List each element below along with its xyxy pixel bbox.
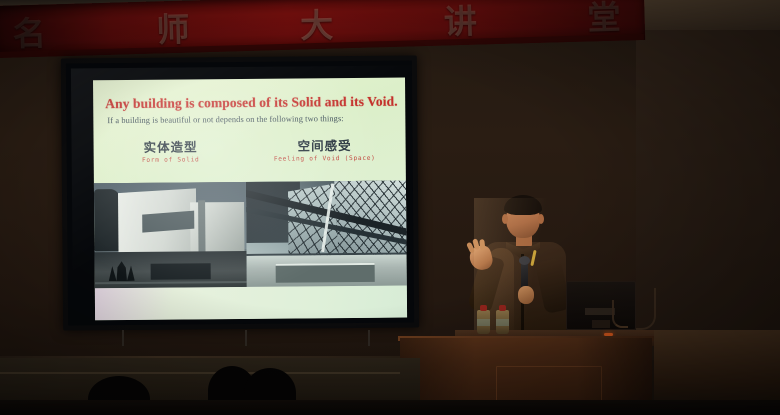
column-label-void: 空间感受 Feeling of Void (Space) (262, 138, 388, 163)
speaker-ear-left (502, 214, 508, 224)
microphone-head (519, 256, 530, 265)
water-bottle-1 (477, 310, 490, 334)
water-bottle-2 (496, 310, 509, 334)
bottle-cap-1 (480, 305, 487, 311)
screen-hanger-left (122, 330, 124, 346)
pyramid-sunken-court (275, 263, 374, 283)
column-label-solid-en: Form of Solid (116, 156, 226, 164)
bottle-cap-2 (499, 305, 506, 311)
slide-image-solid-building (94, 182, 247, 288)
column-label-void-en: Feeling of Void (Space) (262, 155, 388, 163)
cable-right (636, 288, 656, 330)
building-tree (94, 189, 121, 251)
stage-molding-line (0, 372, 400, 374)
foreground-shadow (0, 400, 780, 415)
speaker-hand-holding-mic (518, 286, 534, 304)
slide-subtitle: If a building is beautiful or not depend… (107, 114, 399, 126)
speaker-hair (504, 195, 542, 215)
building-shadow-mass (151, 263, 211, 280)
right-wall-highlight (640, 0, 780, 30)
slide-footer-band (95, 286, 407, 321)
column-label-solid: 实体造型 Form of Solid (116, 139, 226, 164)
slide-title: Any building is composed of its Solid an… (105, 94, 397, 113)
finger-3 (479, 239, 485, 250)
projection-screen: Any building is composed of its Solid an… (61, 55, 419, 330)
bottle-label-1 (477, 319, 490, 326)
column-label-void-cn: 空间感受 (262, 138, 388, 154)
bottle-label-2 (496, 319, 509, 326)
projection-screen-surface: Any building is composed of its Solid an… (66, 60, 414, 325)
cable-front (612, 300, 628, 328)
presentation-slide: Any building is composed of its Solid an… (93, 78, 407, 321)
lecture-hall-scene: 名 师 大 讲 堂 Any building is composed of it… (0, 0, 780, 415)
screen-hanger-right (368, 330, 370, 346)
right-wall (636, 0, 780, 360)
monitor-stand (592, 320, 610, 328)
column-label-solid-cn: 实体造型 (116, 139, 226, 155)
screen-hanger-center (245, 330, 247, 346)
slide-image-row (94, 181, 407, 289)
monitor-hinge (585, 308, 615, 315)
slide-column-labels: 实体造型 Form of Solid 空间感受 Feeling of Void … (94, 138, 406, 179)
slide-image-glass-pyramid (246, 181, 407, 287)
building-column (198, 200, 205, 256)
speaker-ear-right (538, 214, 544, 224)
